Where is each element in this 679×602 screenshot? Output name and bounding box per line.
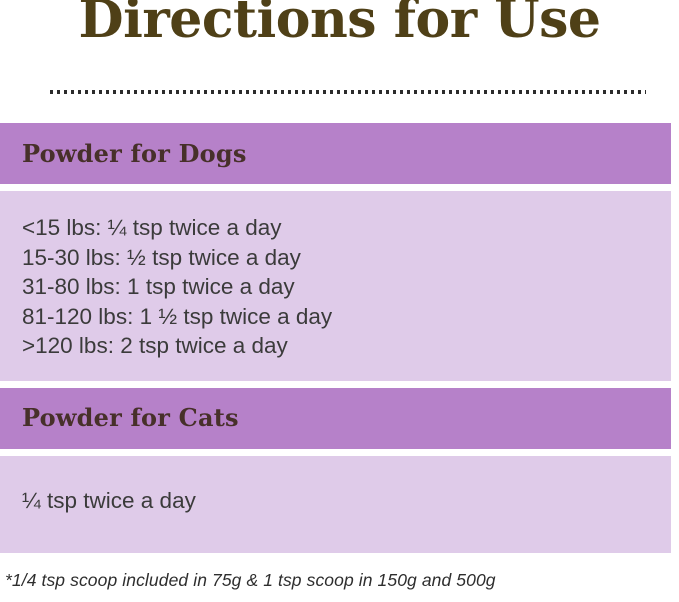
section-header-dogs-label: Powder for Dogs [22, 142, 247, 166]
dose-line: 15-30 lbs: ½ tsp twice a day [22, 243, 649, 273]
dosage-table: Powder for Dogs <15 lbs: ¼ tsp twice a d… [0, 123, 671, 553]
section-gap-3 [0, 449, 671, 456]
section-header-cats: Powder for Cats [0, 388, 671, 449]
footnote: *1/4 tsp scoop included in 75g & 1 tsp s… [5, 570, 496, 591]
section-gap-2 [0, 381, 671, 388]
dose-line: 81-120 lbs: 1 ½ tsp twice a day [22, 302, 649, 332]
section-gap-1 [0, 184, 671, 191]
section-header-dogs: Powder for Dogs [0, 123, 671, 184]
directions-for-use-panel: Directions for Use Powder for Dogs <15 l… [0, 0, 679, 602]
dose-line: 31-80 lbs: 1 tsp twice a day [22, 272, 649, 302]
dotted-divider [50, 90, 646, 94]
section-body-dogs: <15 lbs: ¼ tsp twice a day 15-30 lbs: ½ … [0, 191, 671, 381]
dose-line: <15 lbs: ¼ tsp twice a day [22, 213, 649, 243]
page-title: Directions for Use [0, 0, 679, 52]
section-header-cats-label: Powder for Cats [22, 406, 239, 430]
dose-line: ¼ tsp twice a day [22, 486, 649, 516]
dose-line: >120 lbs: 2 tsp twice a day [22, 331, 649, 361]
section-body-cats: ¼ tsp twice a day [0, 456, 671, 553]
